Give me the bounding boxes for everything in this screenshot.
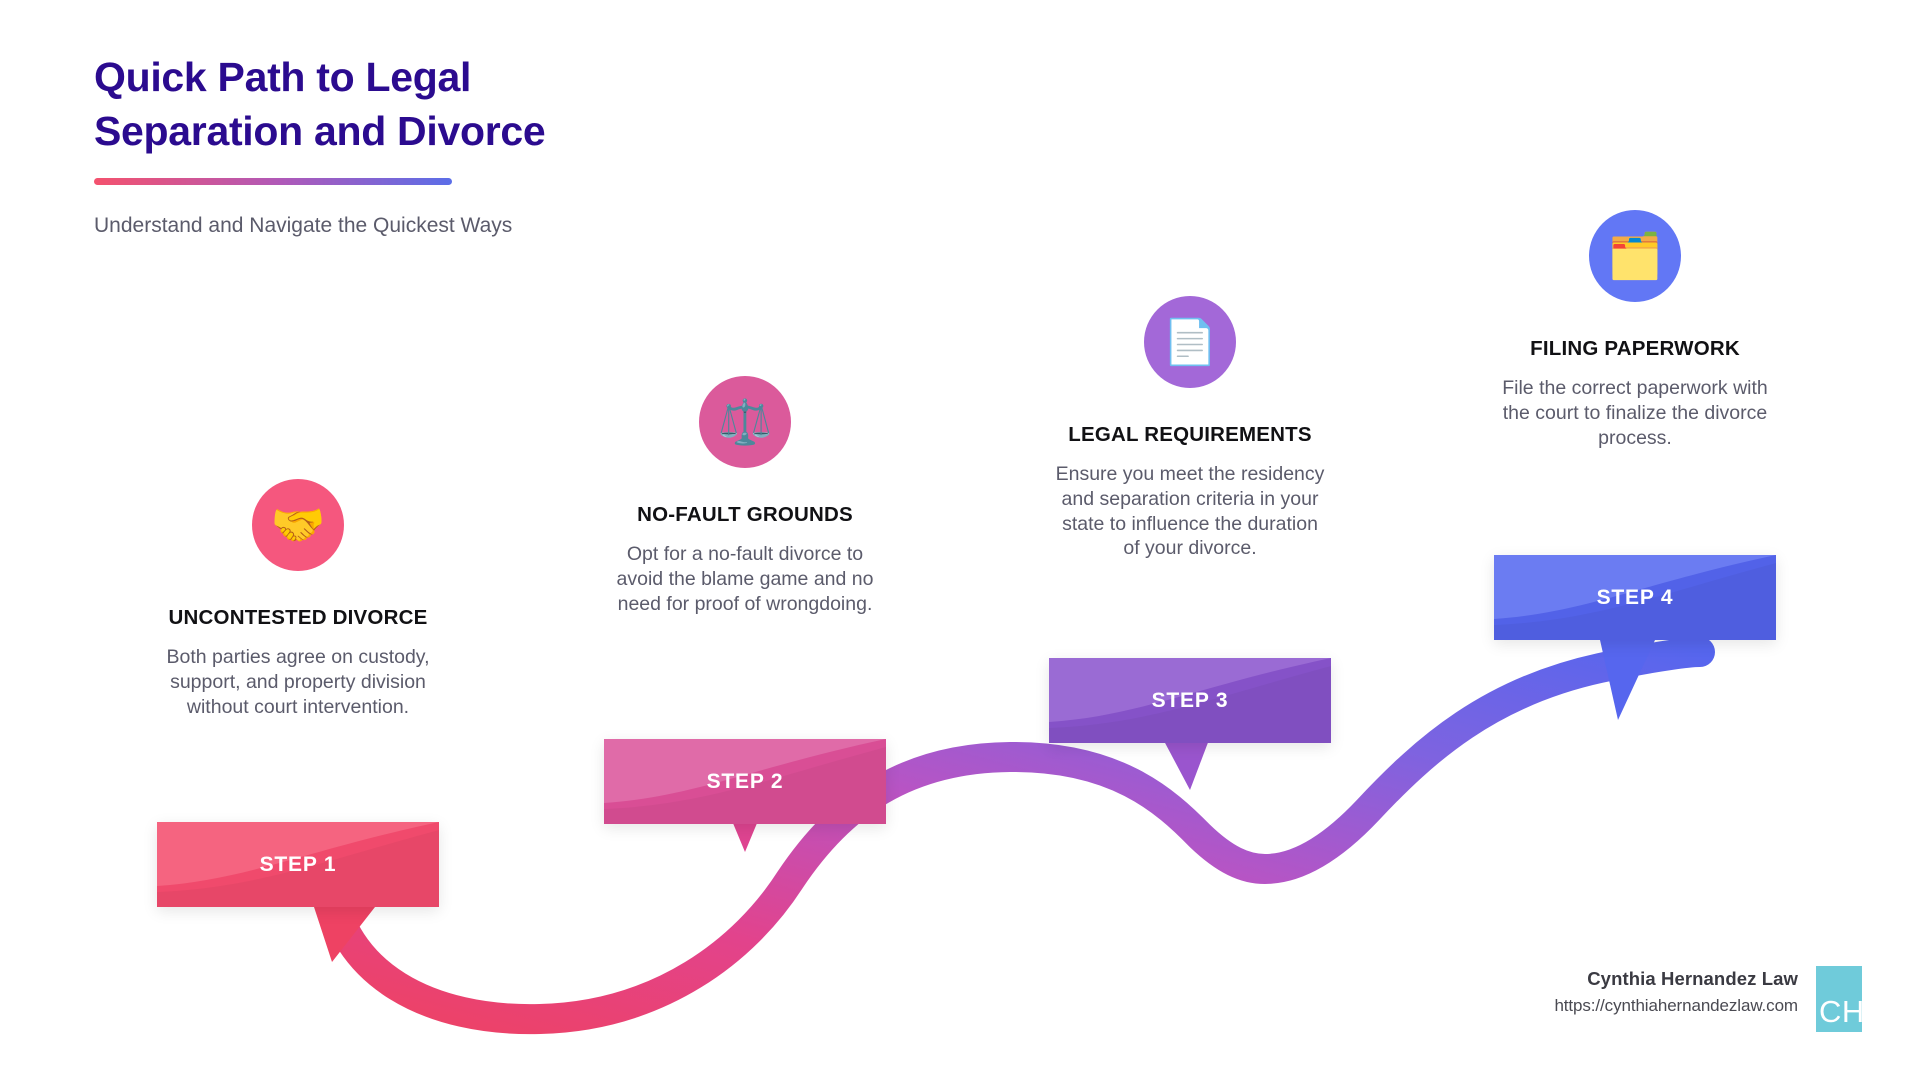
title-divider: [94, 178, 452, 185]
brand-name: Cynthia Hernandez Law: [1554, 968, 1798, 990]
brand-logo: CHL: [1816, 966, 1862, 1032]
page-subtitle: Understand and Navigate the Quickest Way…: [94, 211, 564, 241]
card-index-dividers-icon-glyph: 🗂️: [1608, 235, 1663, 279]
header-block: Quick Path to Legal Separation and Divor…: [94, 50, 654, 241]
brand-logo-text: CHL: [1819, 996, 1883, 1027]
card-index-dividers-icon: 🗂️: [1589, 210, 1681, 302]
step-description-2: Opt for a no-fault divorce to avoid the …: [595, 542, 895, 617]
step-banner-label-3: STEP 3: [1152, 689, 1229, 713]
footer-text-block: Cynthia Hernandez Law https://cynthiaher…: [1554, 966, 1798, 1016]
step-title-4: FILING PAPERWORK: [1485, 336, 1785, 362]
step-banner-4[interactable]: STEP 4: [1494, 555, 1776, 640]
balance-scale-icon: ⚖️: [699, 376, 791, 468]
step-banner-1[interactable]: STEP 1: [157, 822, 439, 907]
step-title-1: UNCONTESTED DIVORCE: [148, 605, 448, 631]
infographic-canvas: Quick Path to Legal Separation and Divor…: [0, 0, 1920, 1080]
step-description-3: Ensure you meet the residency and separa…: [1040, 462, 1340, 562]
step-column-3: 📄 LEGAL REQUIREMENTS Ensure you meet the…: [1040, 296, 1340, 561]
step-column-1: 🤝 UNCONTESTED DIVORCE Both parties agree…: [148, 479, 448, 719]
step-banner-label-4: STEP 4: [1597, 586, 1674, 610]
step-description-1: Both parties agree on custody, support, …: [148, 645, 448, 720]
document-page-icon-glyph: 📄: [1163, 321, 1218, 365]
footer-branding: Cynthia Hernandez Law https://cynthiaher…: [1554, 966, 1862, 1032]
brand-url[interactable]: https://cynthiahernandezlaw.com: [1554, 996, 1798, 1016]
step-title-3: LEGAL REQUIREMENTS: [1040, 422, 1340, 448]
step-banner-label-1: STEP 1: [260, 853, 337, 877]
step-column-2: ⚖️ NO-FAULT GROUNDS Opt for a no-fault d…: [595, 376, 895, 616]
step-banner-label-2: STEP 2: [707, 770, 784, 794]
step-banner-3[interactable]: STEP 3: [1049, 658, 1331, 743]
step-title-2: NO-FAULT GROUNDS: [595, 502, 895, 528]
balance-scale-icon-glyph: ⚖️: [718, 401, 773, 445]
step-banner-2[interactable]: STEP 2: [604, 739, 886, 824]
page-title: Quick Path to Legal Separation and Divor…: [94, 50, 654, 158]
handshake-icon: 🤝: [252, 479, 344, 571]
document-page-icon: 📄: [1144, 296, 1236, 388]
step-description-4: File the correct paperwork with the cour…: [1485, 376, 1785, 451]
handshake-icon-glyph: 🤝: [271, 504, 326, 548]
step-column-4: 🗂️ FILING PAPERWORK File the correct pap…: [1485, 210, 1785, 450]
